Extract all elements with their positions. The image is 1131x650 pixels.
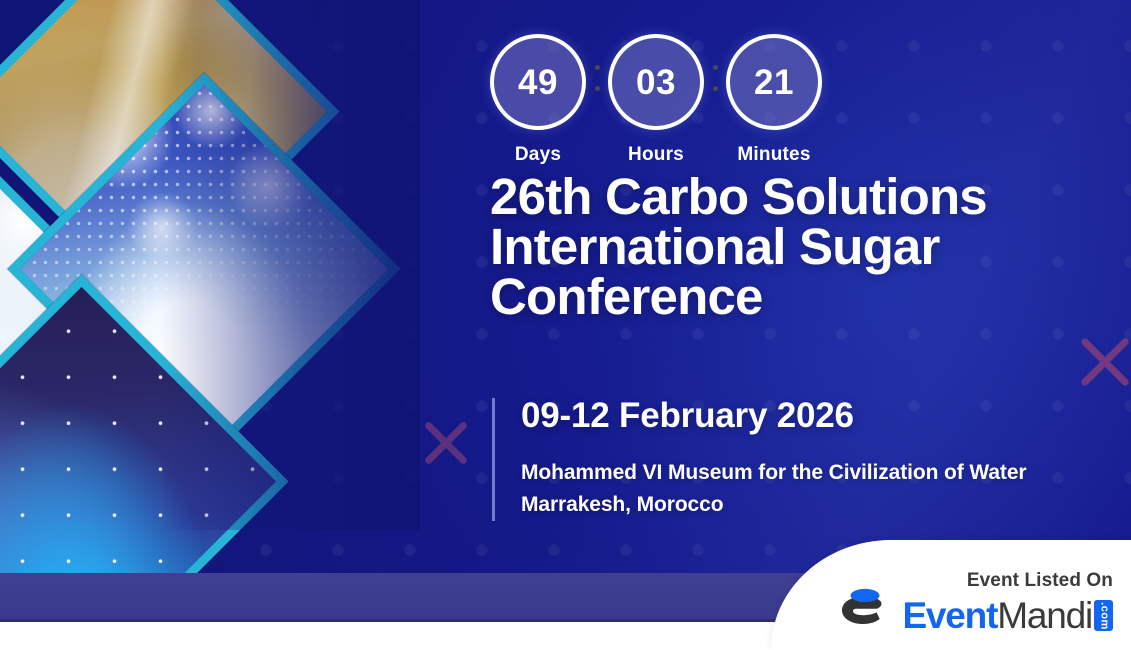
- details-text-group: 09-12 February 2026 Mohammed VI Museum f…: [521, 398, 1026, 521]
- event-location: Marrakesh, Morocco: [521, 489, 1026, 521]
- countdown-circle-hours: 03: [608, 34, 704, 130]
- eventmandi-e-icon: [838, 582, 888, 634]
- countdown-value-days: 49: [518, 65, 558, 100]
- event-venue-block: Mohammed VI Museum for the Civilization …: [521, 457, 1026, 521]
- wordmark-event: Event: [902, 597, 997, 634]
- eventmandi-wordmark-group: Event Listed On Event Mandi .com: [902, 571, 1113, 634]
- event-banner: 49 Days 03 Hours 21 Minutes 26th Carbo S…: [0, 0, 1131, 650]
- countdown-separator-2: [701, 34, 729, 122]
- countdown-unit-hours: 03 Hours: [611, 34, 701, 164]
- decorative-x-icon-right: [1073, 330, 1131, 394]
- diamond-photo-collage: [0, 0, 500, 622]
- countdown-separator-1: [583, 34, 611, 122]
- event-date: 09-12 February 2026: [521, 398, 1026, 433]
- event-listed-on-label: Event Listed On: [967, 571, 1113, 590]
- details-divider-rule: [492, 398, 495, 521]
- countdown-unit-days: 49 Days: [493, 34, 583, 164]
- countdown-value-minutes: 21: [754, 65, 794, 100]
- eventmandi-logo[interactable]: Event Listed On Event Mandi .com: [838, 571, 1113, 634]
- countdown-label-days: Days: [515, 145, 561, 164]
- eventmandi-wordmark: Event Mandi .com: [902, 597, 1113, 634]
- banner-artboard: 49 Days 03 Hours 21 Minutes 26th Carbo S…: [0, 0, 1131, 622]
- event-venue: Mohammed VI Museum for the Civilization …: [521, 457, 1026, 489]
- countdown-label-hours: Hours: [628, 145, 684, 164]
- event-title: 26th Carbo Solutions International Sugar…: [490, 172, 1110, 322]
- event-details: 09-12 February 2026 Mohammed VI Museum f…: [492, 398, 1026, 521]
- countdown-value-hours: 03: [636, 65, 676, 100]
- wordmark-mandi: Mandi: [997, 597, 1092, 634]
- countdown-circle-minutes: 21: [726, 34, 822, 130]
- countdown-timer: 49 Days 03 Hours 21 Minutes: [493, 34, 819, 164]
- decorative-x-icon-left: [418, 415, 474, 471]
- countdown-unit-minutes: 21 Minutes: [729, 34, 819, 164]
- countdown-label-minutes: Minutes: [737, 145, 810, 164]
- countdown-circle-days: 49: [490, 34, 586, 130]
- wordmark-com-badge: .com: [1094, 600, 1113, 631]
- wordmark-com-text: .com: [1098, 602, 1109, 630]
